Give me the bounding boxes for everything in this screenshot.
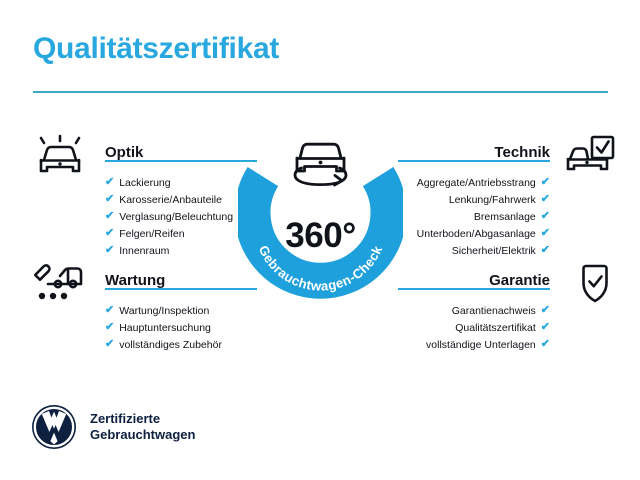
check-icon: ✔ [105,322,114,333]
check-icon: ✔ [541,211,550,222]
check-icon: ✔ [105,194,114,205]
list-item: ✔vollständiges Zubehör [22,336,257,353]
check-icon: ✔ [105,177,114,188]
list-item: ✔Unterboden/Abgasanlage [383,225,618,242]
panel-technik: Technik ✔Aggregate/Antriebsstrang ✔Lenku… [383,134,618,259]
check-icon: ✔ [105,305,114,316]
check-icon: ✔ [541,228,550,239]
volkswagen-logo [31,404,77,450]
quality-certificate-page: Qualitätszertifikat Optik ✔Lackierung ✔K… [0,0,640,480]
list-item-label: Hauptuntersuchung [119,322,211,334]
checklist-optik: ✔Lackierung ✔Karosserie/Anbauteile ✔Verg… [22,174,257,259]
list-item-label: Karosserie/Anbauteile [119,194,222,206]
checklist-garantie: ✔Garantienachweis ✔Qualitätszertifikat ✔… [383,302,618,353]
list-item: ✔Qualitätszertifikat [383,319,618,336]
list-item-label: Qualitätszertifikat [455,322,536,334]
badge-center-label: 360° [285,216,355,255]
list-item: ✔Hauptuntersuchung [22,319,257,336]
list-item-label: Bremsanlage [474,211,536,223]
footer-brand-line2: Gebrauchtwagen [90,427,195,443]
list-item-label: Felgen/Reifen [119,228,184,240]
footer-brand: Zertifizierte Gebrauchtwagen [31,404,195,450]
list-item-label: Wartung/Inspektion [119,305,209,317]
panel-divider-wartung [105,288,257,290]
list-item-label: Verglasung/Beleuchtung [119,211,233,223]
list-item: ✔Verglasung/Beleuchtung [22,208,257,225]
panel-optik: Optik ✔Lackierung ✔Karosserie/Anbauteile… [22,134,257,259]
panel-garantie: Garantie ✔Garantienachweis ✔Qualitätszer… [383,262,618,353]
list-item-label: Lackierung [119,177,170,189]
list-item-label: Garantienachweis [452,305,536,317]
panel-title-technik: Technik [494,144,550,161]
panel-title-wartung: Wartung [105,272,165,289]
panel-divider-optik [105,160,257,162]
panel-title-garantie: Garantie [489,272,550,289]
panel-divider-garantie [398,288,550,290]
page-title: Qualitätszertifikat [33,32,279,66]
panel-title-optik: Optik [105,144,143,161]
check-icon: ✔ [541,322,550,333]
list-item-label: vollständige Unterlagen [426,339,536,351]
list-item: ✔Felgen/Reifen [22,225,257,242]
list-item: ✔Lenkung/Fahrwerk [383,191,618,208]
badge-360-gebrauchtwagen-check: 360° Gebrauchtwagen-Check [238,124,403,299]
panel-wartung: Wartung ✔Wartung/Inspektion ✔Hauptunters… [22,262,257,353]
check-icon: ✔ [541,245,550,256]
list-item: ✔vollständige Unterlagen [383,336,618,353]
check-icon: ✔ [105,245,114,256]
check-icon: ✔ [105,339,114,350]
check-icon: ✔ [105,211,114,222]
list-item-label: Unterboden/Abgasanlage [417,228,536,240]
list-item-label: Innenraum [119,245,169,257]
check-icon: ✔ [541,339,550,350]
list-item: ✔Sicherheit/Elektrik [383,242,618,259]
check-icon: ✔ [541,305,550,316]
list-item: ✔Bremsanlage [383,208,618,225]
list-item: ✔Karosserie/Anbauteile [22,191,257,208]
car-rotate-icon [295,144,346,185]
title-divider [33,91,608,93]
list-item-label: vollständiges Zubehör [119,339,222,351]
list-item-label: Aggregate/Antriebsstrang [417,177,536,189]
list-item-label: Lenkung/Fahrwerk [449,194,536,206]
panel-divider-technik [398,160,550,162]
checklist-wartung: ✔Wartung/Inspektion ✔Hauptuntersuchung ✔… [22,302,257,353]
check-icon: ✔ [105,228,114,239]
check-icon: ✔ [541,194,550,205]
footer-brand-text: Zertifizierte Gebrauchtwagen [90,411,195,443]
check-icon: ✔ [541,177,550,188]
checklist-technik: ✔Aggregate/Antriebsstrang ✔Lenkung/Fahrw… [383,174,618,259]
footer-brand-line1: Zertifizierte [90,411,195,427]
list-item-label: Sicherheit/Elektrik [452,245,536,257]
list-item: ✔Innenraum [22,242,257,259]
